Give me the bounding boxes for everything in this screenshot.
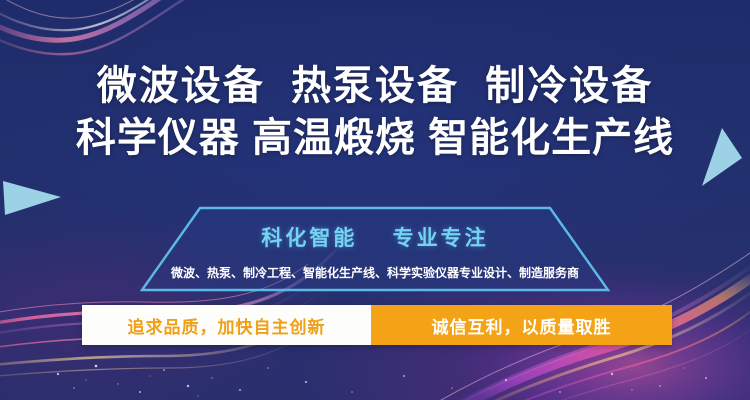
bottom-slogan-bars: 追求品质，加快自主创新 诚信互利，以质量取胜	[82, 305, 672, 345]
headline-block: 微波设备 热泵设备 制冷设备 科学仪器 高温煅烧 智能化生产线	[0, 60, 750, 164]
headline-line-2: 科学仪器 高温煅烧 智能化生产线	[0, 112, 750, 164]
slogan-bar-right-text: 诚信互利，以质量取胜	[432, 313, 612, 338]
promo-banner: 微波设备 热泵设备 制冷设备 科学仪器 高温煅烧 智能化生产线 科化智能 专业专…	[0, 0, 750, 400]
slogan-bar-right: 诚信互利，以质量取胜	[371, 305, 672, 345]
triangle-left-arrow-icon	[3, 175, 63, 217]
slogan-bar-left: 追求品质，加快自主创新	[82, 305, 371, 345]
plate-slogan: 科化智能 专业专注	[140, 222, 610, 252]
slogan-bar-left-text: 追求品质，加快自主创新	[128, 313, 326, 338]
headline-line-1: 微波设备 热泵设备 制冷设备	[0, 60, 750, 112]
plate-subline: 微波、热泵、制冷工程、智能化生产线、科学实验仪器专业设计、制造服务商	[95, 264, 655, 281]
